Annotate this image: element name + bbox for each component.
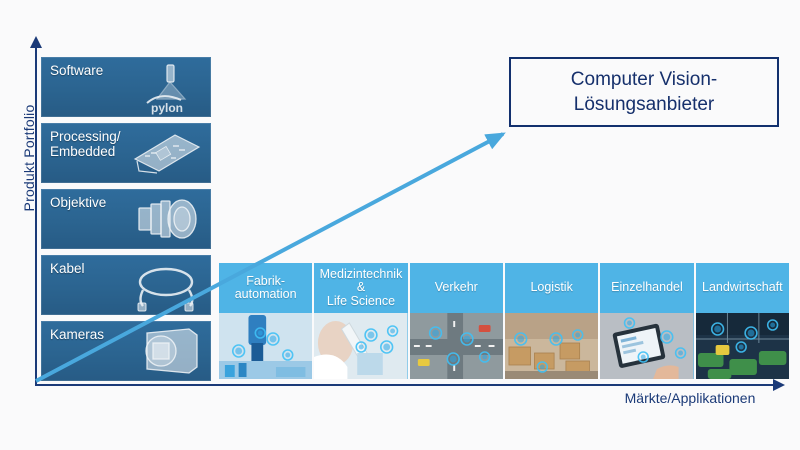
market-tile-label: Fabrik- automation (219, 263, 312, 313)
y-axis-label: Produkt Portfolio (21, 83, 37, 233)
industrial-camera-icon (127, 323, 205, 379)
market-tile-fabrik-automation[interactable]: Fabrik- automation (219, 263, 312, 379)
x-axis-line (35, 384, 775, 386)
market-tile-label: Einzelhandel (600, 263, 693, 313)
slide-canvas: Produkt Portfolio Märkte/Applikationen S… (0, 0, 800, 450)
portfolio-tile-processing-embedded[interactable]: Processing/ Embedded (41, 123, 211, 183)
x-axis-label: Märkte/Applikationen (600, 390, 780, 406)
portfolio-tile-label: Processing/ Embedded (50, 129, 121, 159)
market-tile-medizintechnik-life-science[interactable]: Medizintechnik & Life Science (314, 263, 407, 379)
market-tile-label: Landwirtschaft (696, 263, 789, 313)
retail-tablet-photo (600, 313, 693, 379)
market-tile-label: Medizintechnik & Life Science (314, 263, 407, 313)
y-axis-arrowhead (30, 36, 42, 48)
agriculture-greenhouse-photo (696, 313, 789, 379)
portfolio-tile-label: Kameras (50, 327, 104, 342)
market-tile-landwirtschaft[interactable]: Landwirtschaft (696, 263, 789, 379)
factory-automation-photo (219, 313, 312, 379)
product-portfolio-stack: Software pylonProcessing/ Embedded Objek… (41, 57, 211, 381)
callout-box[interactable]: Computer Vision- Lösungsanbieter (509, 57, 779, 127)
cable-coil-icon (127, 257, 205, 313)
portfolio-tile-kabel[interactable]: Kabel (41, 255, 211, 315)
market-tile-logistik[interactable]: Logistik (505, 263, 598, 379)
pylon-software-icon: pylon (127, 59, 205, 115)
warehouse-logistics-photo (505, 313, 598, 379)
portfolio-tile-label: Objektive (50, 195, 106, 210)
svg-text:pylon: pylon (151, 101, 183, 115)
portfolio-tile-label: Kabel (50, 261, 85, 276)
market-tile-label: Logistik (505, 263, 598, 313)
markets-applications-row: Fabrik- automation Medizintechnik & Life… (219, 263, 789, 379)
callout-text: Computer Vision- Lösungsanbieter (571, 67, 717, 117)
frame-grabber-card-icon (127, 125, 205, 181)
portfolio-tile-software[interactable]: Software pylon (41, 57, 211, 117)
traffic-intersection-photo (410, 313, 503, 379)
portfolio-tile-objektive[interactable]: Objektive (41, 189, 211, 249)
portfolio-tile-label: Software (50, 63, 103, 78)
camera-lens-icon (127, 191, 205, 247)
portfolio-tile-kameras[interactable]: Kameras (41, 321, 211, 381)
market-tile-verkehr[interactable]: Verkehr (410, 263, 503, 379)
market-tile-label: Verkehr (410, 263, 503, 313)
market-tile-einzelhandel[interactable]: Einzelhandel (600, 263, 693, 379)
medical-lab-photo (314, 313, 407, 379)
